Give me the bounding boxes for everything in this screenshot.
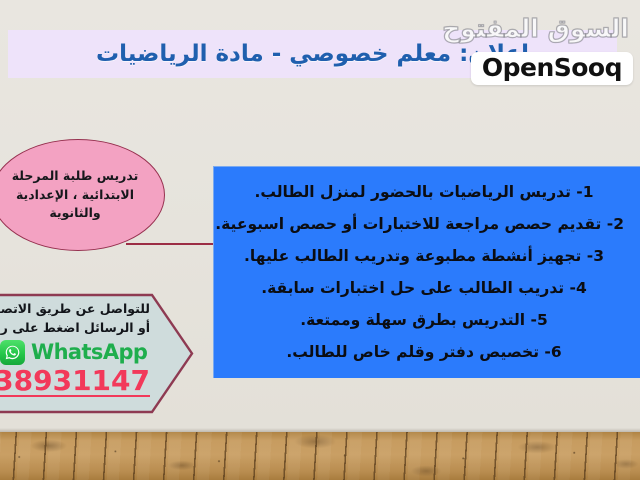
service-item: 2- تقديم حصص مراجعة للاختبارات أو حصص اس…: [224, 208, 624, 240]
grade-levels-line-2: الابتدائية ، الإعدادية: [12, 186, 139, 205]
contact-note-line-1: للتواصل عن طريق الاتصال: [0, 299, 150, 318]
service-item: 1- تدريس الرياضيات بالحضور لمنزل الطالب.: [224, 176, 624, 208]
watermark-latin-text: OpenSooq: [482, 55, 622, 80]
whatsapp-icon[interactable]: [0, 340, 25, 365]
wood-floor: [0, 432, 640, 480]
connector-line: [126, 243, 218, 245]
poster-image: اعلان: معلم خصوصي - مادة الرياضيات السوق…: [0, 0, 640, 480]
contact-note-line-2: أو الرسائل اضغط على رقم: [0, 318, 150, 337]
whatsapp-row[interactable]: WhatsApp: [0, 340, 150, 365]
contact-content: للتواصل عن طريق الاتصال أو الرسائل اضغط …: [0, 293, 162, 414]
whatsapp-label: WhatsApp: [31, 342, 147, 363]
watermark-badge: OpenSooq: [471, 52, 633, 85]
service-item: 4- تدريب الطالب على حل اختبارات سابقة.: [224, 272, 624, 304]
floor-plank-seams: [0, 432, 640, 480]
service-item: 6- تخصيص دفتر وقلم خاص للطالب.: [224, 336, 624, 368]
contact-callout[interactable]: للتواصل عن طريق الاتصال أو الرسائل اضغط …: [0, 293, 194, 414]
grade-levels-line-3: والثانوية: [12, 204, 139, 223]
opensooq-watermark: السوق المفتوح OpenSooq: [455, 14, 635, 92]
service-item: 5- التدريس بطرق سهلة وممتعة.: [224, 304, 624, 336]
grade-levels-text: تدريس طلبة المرحلة الابتدائية ، الإعدادي…: [4, 167, 153, 223]
phone-number[interactable]: 38931147: [0, 366, 150, 397]
grade-levels-line-1: تدريس طلبة المرحلة: [12, 167, 139, 186]
services-list-box: 1- تدريس الرياضيات بالحضور لمنزل الطالب.…: [213, 166, 640, 378]
watermark-arabic-text: السوق المفتوح: [442, 14, 629, 43]
service-item: 3- تجهيز أنشطة مطبوعة وتدريب الطالب عليه…: [224, 240, 624, 272]
